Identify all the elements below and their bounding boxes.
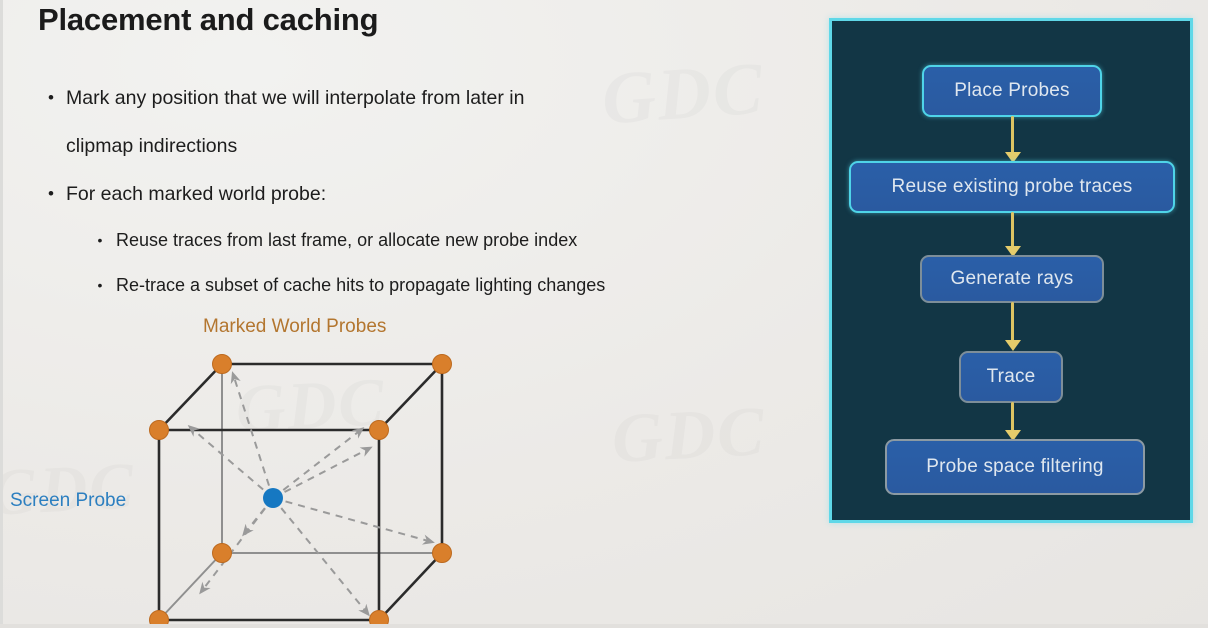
flow-node-reuse-existing-traces[interactable]: Reuse existing probe traces bbox=[849, 161, 1175, 213]
flow-arrow-1 bbox=[1004, 116, 1020, 163]
bullet-list: • Mark any position that we will interpo… bbox=[36, 74, 826, 308]
probe-rays bbox=[190, 374, 432, 614]
flow-node-place-probes[interactable]: Place Probes bbox=[922, 65, 1102, 117]
flow-arrow-3 bbox=[1004, 302, 1020, 352]
bullet-marker: • bbox=[84, 218, 116, 263]
frame-edge-left bbox=[0, 0, 3, 628]
flow-node-trace[interactable]: Trace bbox=[959, 351, 1063, 403]
bullet-text: Mark any position that we will interpola… bbox=[66, 74, 524, 122]
arrow-stem bbox=[1011, 212, 1014, 248]
screen-probe-dot bbox=[263, 488, 283, 508]
cube-back-edges bbox=[159, 364, 442, 620]
frame-edge-bottom bbox=[0, 624, 1208, 628]
slide-canvas: GDC GDC GDC GDC Placement and caching • … bbox=[0, 0, 1208, 628]
bullet-marker: • bbox=[36, 170, 66, 218]
screen-probe-label: Screen Probe bbox=[10, 490, 126, 512]
bullet-item: • For each marked world probe: bbox=[36, 170, 826, 218]
flowchart-panel: Place Probes Reuse existing probe traces… bbox=[829, 18, 1193, 523]
page-title: Placement and caching bbox=[38, 2, 378, 38]
arrow-stem bbox=[1011, 302, 1014, 342]
arrow-stem bbox=[1011, 402, 1014, 432]
flow-node-generate-rays[interactable]: Generate rays bbox=[920, 255, 1104, 303]
bullet-text: For each marked world probe: bbox=[66, 170, 326, 218]
watermark-3: GDC bbox=[610, 392, 768, 480]
bullet-item: • Mark any position that we will interpo… bbox=[36, 74, 826, 122]
bullet-text: Reuse traces from last frame, or allocat… bbox=[116, 218, 577, 263]
sub-bullet-item: • Reuse traces from last frame, or alloc… bbox=[36, 218, 826, 263]
probe-cube-figure: Marked World Probes Screen Probe bbox=[0, 300, 520, 628]
arrow-stem bbox=[1011, 116, 1014, 154]
world-probe-dots bbox=[150, 355, 452, 628]
arrow-head-icon bbox=[1005, 340, 1021, 351]
bullet-item-continuation: clipmap indirections bbox=[36, 122, 826, 170]
bullet-marker: • bbox=[36, 74, 66, 122]
flow-node-probe-space-filtering[interactable]: Probe space filtering bbox=[885, 439, 1145, 495]
flow-arrow-4 bbox=[1004, 402, 1020, 442]
flow-arrow-2 bbox=[1004, 212, 1020, 257]
cube-svg bbox=[0, 300, 520, 628]
cube-front-edges bbox=[159, 364, 442, 620]
marked-world-probes-label: Marked World Probes bbox=[203, 316, 386, 338]
